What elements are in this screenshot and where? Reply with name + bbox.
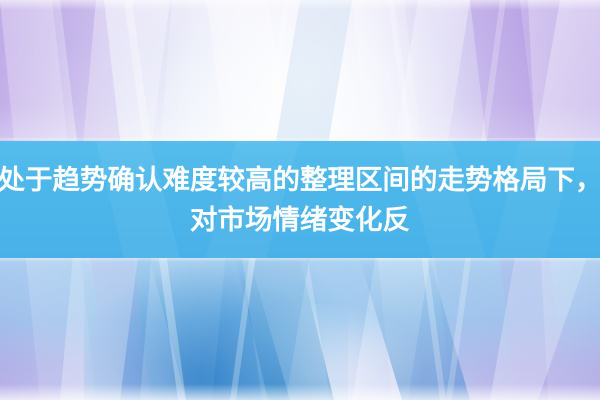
headline-line-1: 处于趋势确认难度较高的整理区间的走势格局下， bbox=[0, 160, 600, 200]
headline-line-2: 对市场情绪变化反 bbox=[190, 200, 410, 240]
headline-band: 处于趋势确认难度较高的整理区间的走势格局下， 对市场情绪变化反 bbox=[0, 141, 600, 258]
band-bottom-seam bbox=[0, 258, 600, 262]
bottom-edge-haze bbox=[0, 384, 600, 400]
top-edge-haze bbox=[0, 0, 600, 10]
banner-card: 处于趋势确认难度较高的整理区间的走势格局下， 对市场情绪变化反 bbox=[0, 0, 600, 400]
